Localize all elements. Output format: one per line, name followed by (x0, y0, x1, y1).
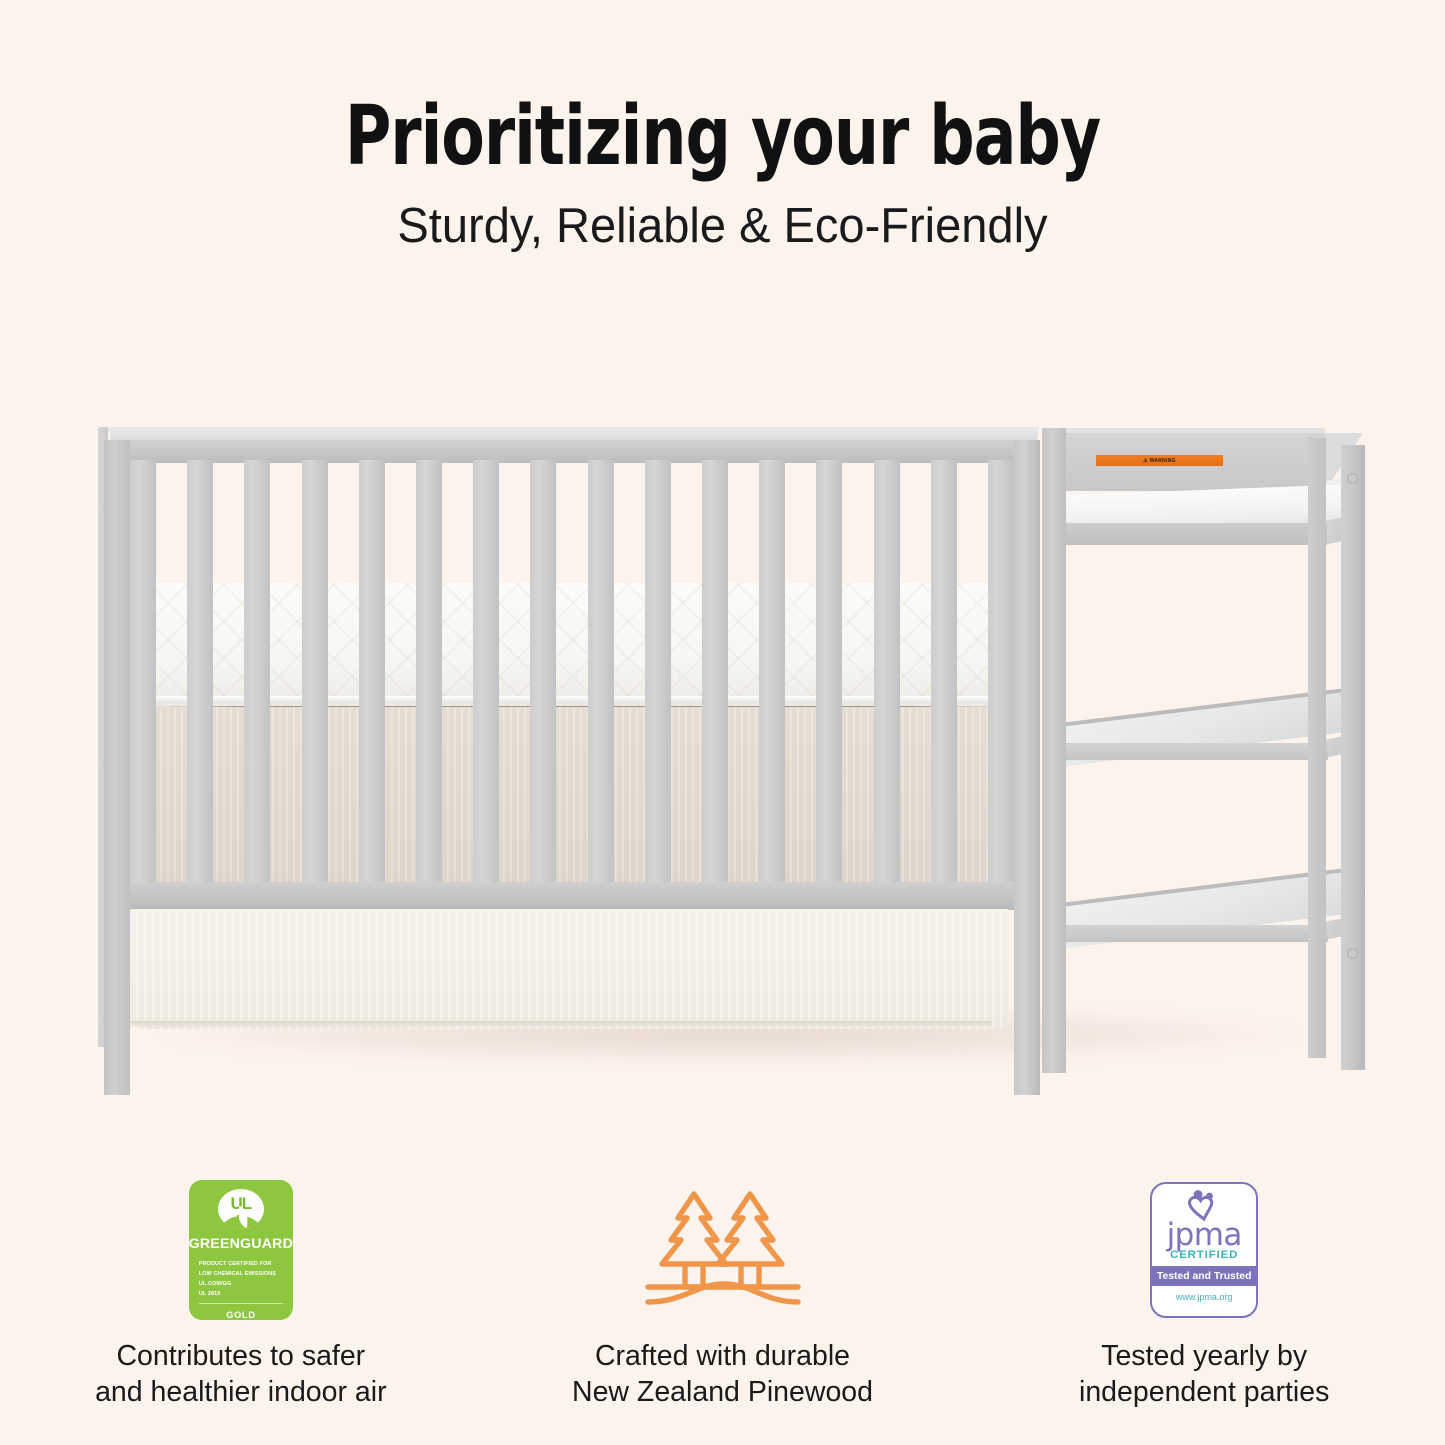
jpma-certified-badge: jpma CERTIFIED Tested and Trusted www.jp… (1150, 1182, 1258, 1318)
caption-line: Tested yearly by (1079, 1338, 1329, 1374)
caption-line: and healthier indoor air (95, 1374, 387, 1410)
fine-print-line: LOW CHEMICAL EMISSIONS (199, 1269, 283, 1279)
feature-row: UL GREENGUARD PRODUCT CERTIFIED FOR LOW … (0, 1180, 1445, 1411)
greenguard-badge-wrap: UL GREENGUARD PRODUCT CERTIFIED FOR LOW … (189, 1180, 293, 1320)
crib-slat (931, 460, 957, 884)
changer-bottom-shelf-rail (1050, 925, 1328, 942)
crib-slat (988, 460, 1014, 884)
crib-lower-skirt (128, 909, 1008, 1029)
warning-label-text: ⚠ WARNING (1143, 458, 1176, 464)
changer-back-rail: ⚠ WARNING (1050, 433, 1325, 491)
crib (98, 415, 1048, 1075)
feature-pinewood: Crafted with durable New Zealand Pinewoo… (482, 1180, 964, 1411)
caption-line: Crafted with durable (572, 1338, 873, 1374)
feature-greenguard: UL GREENGUARD PRODUCT CERTIFIED FOR LOW … (0, 1180, 482, 1411)
jpma-badge-wrap: jpma CERTIFIED Tested and Trusted www.jp… (1150, 1180, 1258, 1320)
fine-print-line: UL 2819 (199, 1289, 283, 1299)
crib-slat (359, 460, 385, 884)
changer-post-middle (1308, 438, 1326, 1058)
feature-caption-pinewood: Crafted with durable New Zealand Pinewoo… (572, 1338, 873, 1411)
greenguard-level: GOLD (226, 1309, 255, 1320)
screw-cap-icon (1347, 473, 1358, 484)
jpma-mark-svg (1183, 1189, 1225, 1221)
feature-caption-jpma: Tested yearly by independent parties (1079, 1338, 1329, 1411)
jpma-heart-figures-icon (1183, 1189, 1225, 1221)
crib-slats (130, 460, 1014, 884)
crib-slat (473, 460, 499, 884)
greenguard-fine-print: PRODUCT CERTIFIED FOR LOW CHEMICAL EMISS… (199, 1259, 283, 1299)
pinewood-icon-wrap (638, 1180, 808, 1320)
crib-slat (874, 460, 900, 884)
warning-label: ⚠ WARNING (1096, 455, 1223, 466)
jpma-certified-text: CERTIFIED (1170, 1249, 1238, 1261)
greenguard-divider (199, 1303, 283, 1304)
changer-middle-shelf-rail (1050, 743, 1328, 760)
crib-slat (816, 460, 842, 884)
page-title: Prioritizing your baby (101, 96, 1344, 178)
crib-slat (702, 460, 728, 884)
jpma-url[interactable]: www.jpma.org (1152, 1286, 1256, 1308)
caption-line: New Zealand Pinewood (572, 1374, 873, 1410)
page-subtitle: Sturdy, Reliable & Eco-Friendly (29, 202, 1416, 251)
fine-print-line: UL.COM/GG (199, 1279, 283, 1289)
crib-slat (187, 460, 213, 884)
crib-slat (645, 460, 671, 884)
screw-cap-icon (1347, 948, 1358, 959)
ul-mark-icon: UL (218, 1189, 264, 1229)
header: Prioritizing your baby Sturdy, Reliable … (0, 0, 1445, 251)
caption-line: independent parties (1079, 1374, 1329, 1410)
changing-table: ⚠ WARNING (1020, 420, 1380, 1070)
leaf-stem-icon (237, 1215, 239, 1229)
lower-skirt-texture (128, 909, 1008, 1029)
crib-slat (416, 460, 442, 884)
feature-caption-greenguard: Contributes to safer and healthier indoo… (95, 1338, 387, 1411)
crib-slat (244, 460, 270, 884)
crib-bottom-rail (104, 882, 1039, 910)
pine-trees-icon (638, 1184, 808, 1316)
fine-print-line: PRODUCT CERTIFIED FOR (199, 1259, 283, 1269)
crib-slat (130, 460, 156, 884)
greenguard-wordmark: GREENGUARD (189, 1236, 293, 1252)
jpma-wordmark: jpma (1167, 1221, 1242, 1250)
feature-jpma: jpma CERTIFIED Tested and Trusted www.jp… (963, 1180, 1445, 1411)
crib-post-left (104, 440, 130, 1095)
crib-slat (759, 460, 785, 884)
changer-front-rail (1050, 523, 1327, 545)
caption-line: Contributes to safer (95, 1338, 387, 1374)
lower-skirt-hem (130, 1021, 992, 1027)
product-image: ⚠ WARNING (0, 395, 1445, 1115)
crib-slat (302, 460, 328, 884)
crib-slat (588, 460, 614, 884)
greenguard-gold-badge: UL GREENGUARD PRODUCT CERTIFIED FOR LOW … (189, 1180, 293, 1320)
jpma-tagline: Tested and Trusted (1152, 1266, 1256, 1286)
crib-slat (530, 460, 556, 884)
changer-post-left (1042, 428, 1066, 1073)
changer-post-right (1341, 445, 1365, 1070)
